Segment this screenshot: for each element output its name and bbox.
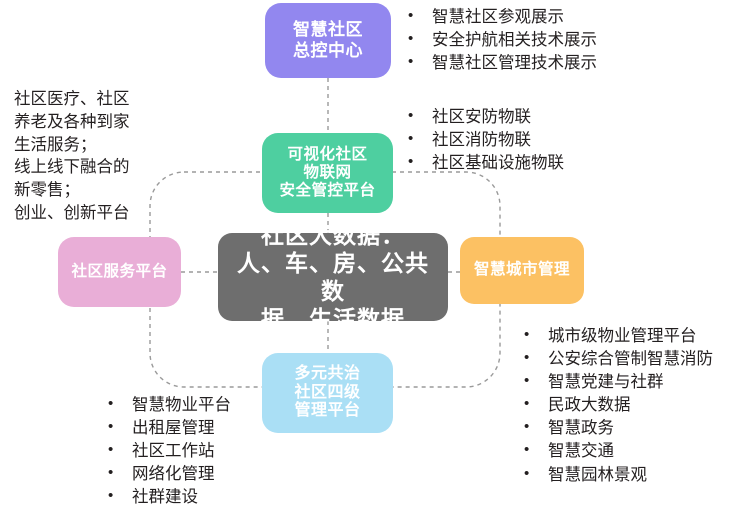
left-paragraph-text: 社区医疗、社区 养老及各种到家 生活服务； 线上线下融合的 新零售； 创业、创新… <box>14 88 214 225</box>
list-item: 智慧社区参观展示 <box>404 6 597 29</box>
node-label: 智慧城市管理 <box>474 261 570 279</box>
top-right-bullet-list: 智慧社区参观展示 安全护航相关技术展示 智慧社区管理技术展示 <box>404 6 597 75</box>
list-item: 智慧党建与社群 <box>520 371 713 394</box>
node-multi-governance-four-level-platform[interactable]: 多元共治 社区四级 管理平台 <box>262 353 393 433</box>
list-item: 智慧交通 <box>520 440 713 463</box>
list-item: 出租屋管理 <box>104 417 231 440</box>
node-label: 多元共治 社区四级 管理平台 <box>294 365 360 422</box>
list-item: 社群建设 <box>104 486 231 509</box>
middle-right-bullet-list: 社区安防物联 社区消防物联 社区基础设施物联 <box>404 106 564 175</box>
node-label: 智慧社区 总控中心 <box>293 20 363 60</box>
list-item: 网络化管理 <box>104 463 231 486</box>
annotation-middle-right: 社区安防物联 社区消防物联 社区基础设施物联 <box>404 106 564 175</box>
node-label: 社区服务平台 <box>71 263 167 281</box>
list-item: 公安综合管制智慧消防 <box>520 348 713 371</box>
node-label: 可视化社区 物联网 安全管控平台 <box>279 146 375 201</box>
node-community-big-data[interactable]: 社区大数据： 人、车、房、公共数 据、生活数据 <box>218 233 448 321</box>
list-item: 智慧物业平台 <box>104 394 231 417</box>
list-item: 智慧社区管理技术展示 <box>404 52 597 75</box>
node-community-service-platform[interactable]: 社区服务平台 <box>58 237 181 307</box>
list-item: 社区工作站 <box>104 440 231 463</box>
node-label: 社区大数据： 人、车、房、公共数 据、生活数据 <box>226 221 440 333</box>
node-visual-community-iot-security-platform[interactable]: 可视化社区 物联网 安全管控平台 <box>262 133 393 213</box>
node-smart-city-management[interactable]: 智慧城市管理 <box>460 237 584 304</box>
list-item: 社区安防物联 <box>404 106 564 129</box>
list-item: 城市级物业管理平台 <box>520 325 713 348</box>
annotation-top-right: 智慧社区参观展示 安全护航相关技术展示 智慧社区管理技术展示 <box>404 6 597 75</box>
bottom-left-bullet-list: 智慧物业平台 出租屋管理 社区工作站 网络化管理 社群建设 <box>104 394 231 509</box>
list-item: 民政大数据 <box>520 394 713 417</box>
annotation-bottom-right: 城市级物业管理平台 公安综合管制智慧消防 智慧党建与社群 民政大数据 智慧政务 … <box>520 325 713 487</box>
diagram-canvas: 智慧社区 总控中心 可视化社区 物联网 安全管控平台 社区大数据： 人、车、房、… <box>0 0 740 512</box>
list-item: 安全护航相关技术展示 <box>404 29 597 52</box>
bottom-right-bullet-list: 城市级物业管理平台 公安综合管制智慧消防 智慧党建与社群 民政大数据 智慧政务 … <box>520 325 713 487</box>
list-item: 智慧政务 <box>520 417 713 440</box>
annotation-bottom-left: 智慧物业平台 出租屋管理 社区工作站 网络化管理 社群建设 <box>104 394 231 509</box>
list-item: 社区消防物联 <box>404 129 564 152</box>
list-item: 智慧园林景观 <box>520 464 713 487</box>
list-item: 社区基础设施物联 <box>404 152 564 175</box>
annotation-left-paragraph: 社区医疗、社区 养老及各种到家 生活服务； 线上线下融合的 新零售； 创业、创新… <box>14 88 214 225</box>
node-smart-community-control-center[interactable]: 智慧社区 总控中心 <box>265 3 391 78</box>
